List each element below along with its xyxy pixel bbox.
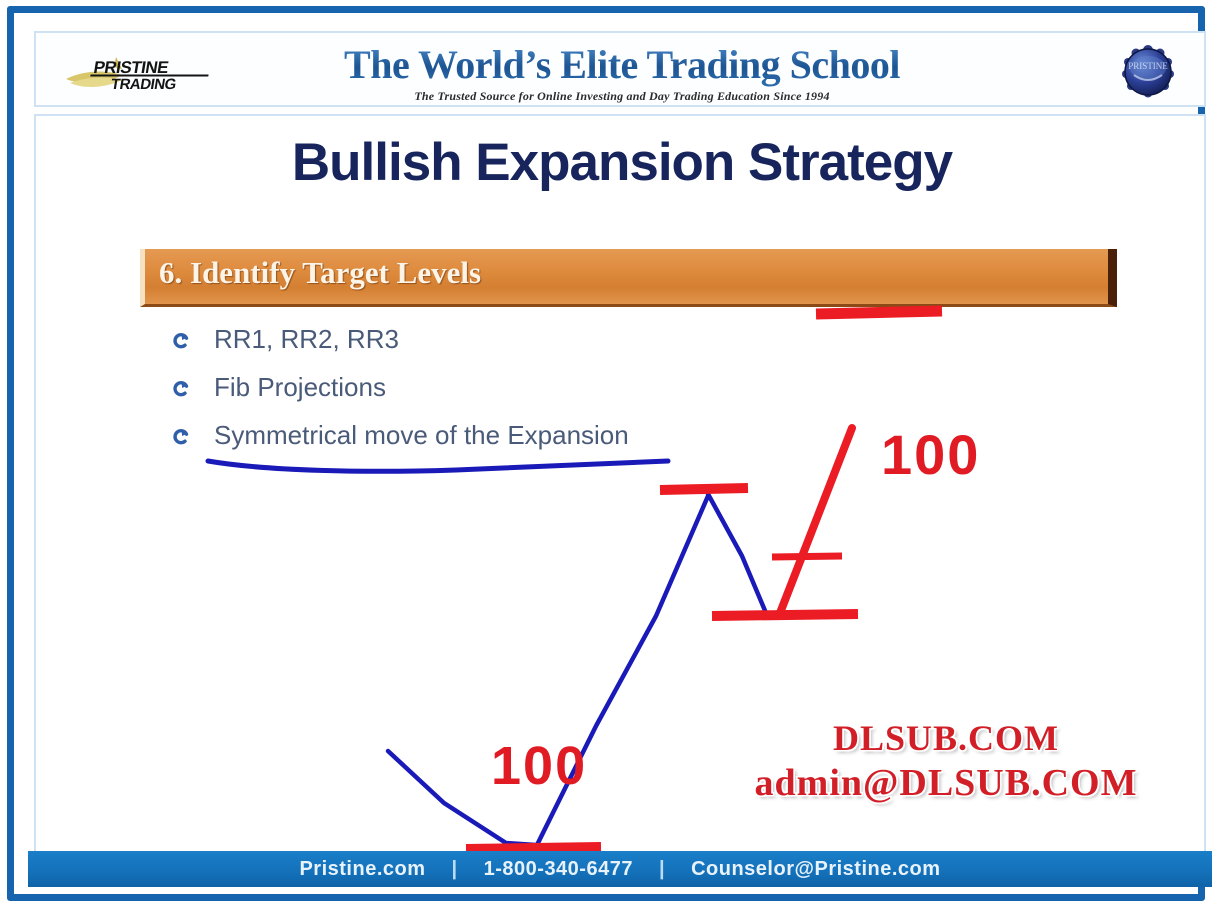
footer-website[interactable]: Pristine.com xyxy=(299,858,425,881)
list-item-label: RR1, RR2, RR3 xyxy=(214,324,399,355)
red-highlight-stroke xyxy=(816,311,942,314)
curved-arrow-bullet-icon xyxy=(172,428,190,446)
red-swing-high-level-line xyxy=(660,488,748,490)
footer-bar: Pristine.com | 1-800-340-6477 | Counselo… xyxy=(28,851,1212,887)
watermark-email: admin@DLSUB.COM xyxy=(696,760,1196,806)
footer-separator-2: | xyxy=(659,858,665,881)
pristine-seal-icon: PRISTINE xyxy=(1117,41,1179,103)
watermark: DLSUB.COM admin@DLSUB.COM xyxy=(696,716,1196,806)
footer-email[interactable]: Counselor@Pristine.com xyxy=(691,858,940,881)
section-header-label: 6. Identify Target Levels xyxy=(159,255,481,291)
svg-text:PRISTINE: PRISTINE xyxy=(1128,61,1168,71)
watermark-site: DLSUB.COM xyxy=(696,716,1196,760)
brand-tagline: The Trusted Source for Online Investing … xyxy=(36,89,1206,104)
slide-canvas: PRISTINE TRADING The World’s Elite Tradi… xyxy=(0,0,1212,907)
blue-pullback-line xyxy=(708,494,766,613)
footer-separator-1: | xyxy=(452,858,458,881)
red-midpoint-tick-line xyxy=(772,556,842,557)
blue-expansion-rally-line xyxy=(536,496,708,847)
slide-content: Bullish Expansion Strategy 6. Identify T… xyxy=(34,114,1206,884)
red-pullback-low-level-line xyxy=(712,614,858,616)
annotation-upper-100: 100 xyxy=(881,423,980,486)
curved-arrow-bullet-icon xyxy=(172,332,190,350)
list-item: RR1, RR2, RR3 xyxy=(154,321,854,369)
list-item: Symmetrical move of the Expansion xyxy=(154,417,854,465)
section-header-bar: 6. Identify Target Levels xyxy=(140,249,1117,307)
annotation-lower-100: 100 xyxy=(491,736,587,796)
curved-arrow-bullet-icon xyxy=(172,380,190,398)
brand-title: The World’s Elite Trading School xyxy=(36,41,1206,88)
footer-phone[interactable]: 1-800-340-6477 xyxy=(484,858,633,881)
list-item-label: Symmetrical move of the Expansion xyxy=(214,420,629,451)
brand-header: PRISTINE TRADING The World’s Elite Tradi… xyxy=(34,31,1206,107)
bullet-list: RR1, RR2, RR3 Fib Projections xyxy=(154,321,854,465)
page-title: Bullish Expansion Strategy xyxy=(36,132,1206,193)
blue-left-downtrend-line xyxy=(388,751,536,845)
list-item: Fib Projections xyxy=(154,369,854,417)
red-support-level-line xyxy=(466,847,601,849)
list-item-label: Fib Projections xyxy=(214,372,386,403)
slide-outer-frame: PRISTINE TRADING The World’s Elite Tradi… xyxy=(7,6,1205,901)
